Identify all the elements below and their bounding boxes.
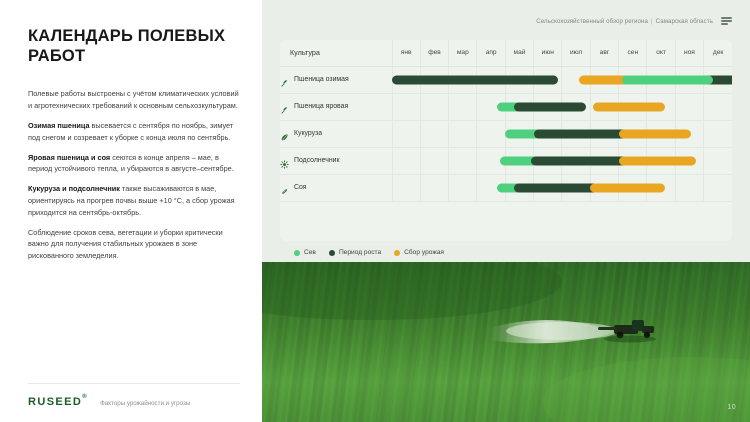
legend-label-harvest: Сбор урожая	[404, 249, 444, 256]
paragraph-3-lead: Кукуруза и подсолнечник	[28, 184, 120, 193]
hamburger-menu-icon[interactable]	[721, 17, 732, 25]
table-row[interactable]: Пшеница яровая	[280, 93, 732, 120]
month-cell-дек	[704, 93, 732, 120]
field-photo-illustration	[262, 262, 750, 422]
month-cell-мар	[449, 174, 477, 201]
month-cell-июн	[534, 93, 562, 120]
month-cell-авг	[590, 66, 618, 93]
month-cell-янв	[392, 147, 420, 174]
month-cell-ноя	[675, 66, 703, 93]
breadcrumb: Сельскохозяйственный обзор региона|Самар…	[536, 18, 713, 25]
month-cell-окт	[647, 174, 675, 201]
legend-label-sow: Сев	[304, 249, 316, 256]
column-header-month-10: ноя	[675, 40, 703, 66]
crop-cell: Пшеница яровая	[280, 93, 392, 120]
body-copy: Полевые работы выстроены с учётом климат…	[28, 88, 240, 270]
column-header-month-6: июл	[562, 40, 590, 66]
month-cell-май	[505, 147, 533, 174]
month-cell-июл	[562, 174, 590, 201]
month-cell-апр	[477, 147, 505, 174]
soy-pod-icon	[280, 183, 289, 192]
paragraph-0: Полевые работы выстроены с учётом климат…	[28, 88, 240, 112]
crop-calendar-table: Культура янв фев мар апр май июн июл авг…	[280, 40, 732, 202]
month-cell-янв	[392, 66, 420, 93]
month-cell-июл	[562, 66, 590, 93]
crop-name: Кукуруза	[294, 130, 322, 137]
slide: КАЛЕНДАРЬ ПОЛЕВЫХ РАБОТ Полевые работы в…	[0, 0, 750, 422]
footer-divider	[28, 383, 240, 384]
footer-note: Факторы урожайности и угрозы	[100, 400, 190, 408]
month-cell-окт	[647, 66, 675, 93]
month-cell-июл	[562, 147, 590, 174]
legend-swatch-harvest	[394, 250, 400, 256]
month-cell-апр	[477, 174, 505, 201]
legend-swatch-sow	[294, 250, 300, 256]
month-cell-окт	[647, 120, 675, 147]
month-cell-авг	[590, 174, 618, 201]
table-row[interactable]: Соя	[280, 174, 732, 201]
top-bar: Сельскохозяйственный обзор региона|Самар…	[280, 13, 732, 29]
month-cell-ноя	[675, 120, 703, 147]
table-row[interactable]: Пшеница озимая	[280, 66, 732, 93]
month-cell-июн	[534, 120, 562, 147]
month-cell-сен	[619, 174, 647, 201]
crop-cell: Кукуруза	[280, 120, 392, 147]
month-cell-апр	[477, 93, 505, 120]
legend-label-grow: Период роста	[339, 249, 381, 256]
month-cell-фев	[420, 174, 448, 201]
paragraph-1: Озимая пшеница высевается с сентября по …	[28, 120, 240, 144]
crop-cell: Соя	[280, 174, 392, 201]
month-cell-фев	[420, 120, 448, 147]
month-cell-окт	[647, 147, 675, 174]
column-header-month-1: фев	[420, 40, 448, 66]
month-cell-ноя	[675, 147, 703, 174]
wheat-sprig-icon	[280, 75, 289, 84]
month-cell-янв	[392, 120, 420, 147]
column-header-month-3: апр	[477, 40, 505, 66]
month-cell-июл	[562, 93, 590, 120]
month-cell-сен	[619, 147, 647, 174]
paragraph-2-lead: Яровая пшеница и соя	[28, 153, 110, 162]
month-cell-июл	[562, 120, 590, 147]
month-cell-май	[505, 174, 533, 201]
table-row[interactable]: Кукуруза	[280, 120, 732, 147]
month-cell-авг	[590, 147, 618, 174]
month-cell-фев	[420, 147, 448, 174]
month-cell-янв	[392, 93, 420, 120]
column-header-month-9: окт	[647, 40, 675, 66]
column-header-month-2: мар	[449, 40, 477, 66]
registered-mark-icon: ®	[82, 394, 88, 400]
breadcrumb-right: Самарская область	[656, 18, 713, 25]
month-cell-апр	[477, 120, 505, 147]
month-cell-май	[505, 93, 533, 120]
table-header-row: Культура янв фев мар апр май июн июл авг…	[280, 40, 732, 66]
month-cell-май	[505, 120, 533, 147]
month-cell-сен	[619, 66, 647, 93]
paragraph-4-text: Соблюдение сроков сева, вегетации и убор…	[28, 228, 223, 261]
table-head: Культура янв фев мар апр май июн июл авг…	[280, 40, 732, 66]
left-panel: КАЛЕНДАРЬ ПОЛЕВЫХ РАБОТ Полевые работы в…	[0, 0, 262, 422]
wheat-sprig-icon	[280, 102, 289, 111]
paragraph-0-text: Полевые работы выстроены с учётом климат…	[28, 89, 239, 110]
month-cell-апр	[477, 66, 505, 93]
month-cell-июн	[534, 147, 562, 174]
field-photo: 10	[262, 262, 750, 422]
month-cell-мар	[449, 66, 477, 93]
table-row[interactable]: Подсолнечник	[280, 147, 732, 174]
month-cell-сен	[619, 120, 647, 147]
page-number: 10	[727, 404, 736, 411]
paragraph-4: Соблюдение сроков сева, вегетации и убор…	[28, 227, 240, 262]
month-cell-ноя	[675, 174, 703, 201]
crop-cell: Подсолнечник	[280, 147, 392, 174]
month-cell-дек	[704, 120, 732, 147]
brand-logo: RUSEED®	[28, 396, 88, 408]
crop-cell: Пшеница озимая	[280, 66, 392, 93]
month-cell-июн	[534, 174, 562, 201]
paragraph-2: Яровая пшеница и соя сеются в конце апре…	[28, 152, 240, 176]
month-cell-фев	[420, 93, 448, 120]
table-body: Пшеница озимаяПшеница яроваяКукурузаПодс…	[280, 66, 732, 201]
column-header-month-7: авг	[590, 40, 618, 66]
sunflower-icon	[280, 156, 289, 165]
chart-area: Сельскохозяйственный обзор региона|Самар…	[262, 0, 750, 262]
month-cell-мар	[449, 93, 477, 120]
column-header-month-8: сен	[619, 40, 647, 66]
month-cell-янв	[392, 174, 420, 201]
column-header-crop: Культура	[280, 40, 392, 66]
month-cell-мар	[449, 120, 477, 147]
month-cell-мар	[449, 147, 477, 174]
month-cell-сен	[619, 93, 647, 120]
month-cell-авг	[590, 120, 618, 147]
month-cell-фев	[420, 66, 448, 93]
legend-swatch-grow	[329, 250, 335, 256]
paragraph-3: Кукуруза и подсолнечник также высаживают…	[28, 183, 240, 218]
column-header-month-5: июн	[534, 40, 562, 66]
crop-name: Пшеница яровая	[294, 103, 348, 110]
crop-name: Пшеница озимая	[294, 76, 349, 83]
month-cell-ноя	[675, 93, 703, 120]
legend-item-grow: Период роста	[329, 249, 381, 256]
footer: RUSEED® Факторы урожайности и угрозы	[28, 396, 190, 408]
legend-item-harvest: Сбор урожая	[394, 249, 444, 256]
corn-leaf-icon	[280, 129, 289, 138]
page-title: КАЛЕНДАРЬ ПОЛЕВЫХ РАБОТ	[28, 26, 240, 66]
month-cell-май	[505, 66, 533, 93]
month-cell-дек	[704, 174, 732, 201]
breadcrumb-left: Сельскохозяйственный обзор региона	[536, 18, 648, 25]
month-cell-дек	[704, 147, 732, 174]
column-header-month-4: май	[505, 40, 533, 66]
paragraph-1-lead: Озимая пшеница	[28, 121, 90, 130]
month-cell-окт	[647, 93, 675, 120]
month-cell-авг	[590, 93, 618, 120]
month-cell-дек	[704, 66, 732, 93]
crop-name: Подсолнечник	[294, 157, 340, 164]
legend: Сев Период роста Сбор урожая	[280, 241, 732, 262]
legend-item-sow: Сев	[294, 249, 316, 256]
column-header-month-11: дек	[704, 40, 732, 66]
month-cell-июн	[534, 66, 562, 93]
brand-logo-text: RUSEED	[28, 396, 82, 408]
column-header-month-0: янв	[392, 40, 420, 66]
gantt-card: Культура янв фев мар апр май июн июл авг…	[280, 40, 732, 241]
breadcrumb-separator: |	[651, 18, 653, 25]
crop-name: Соя	[294, 184, 307, 191]
right-panel: Сельскохозяйственный обзор региона|Самар…	[262, 0, 750, 422]
